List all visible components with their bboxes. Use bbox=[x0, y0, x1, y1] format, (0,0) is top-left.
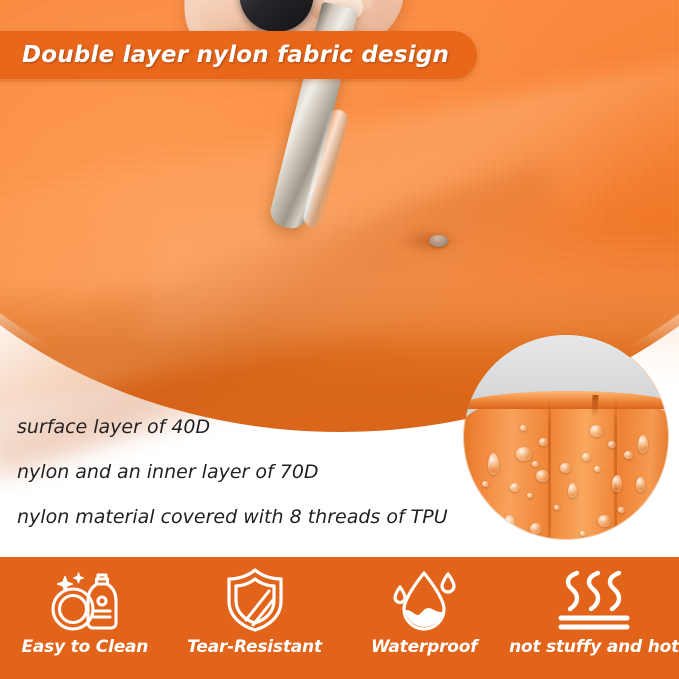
water-droplet bbox=[598, 515, 611, 527]
tool-tip-shadow bbox=[400, 228, 460, 254]
copy-line-2: nylon and an inner layer of 70D bbox=[17, 463, 477, 482]
product-feature-image: Double layer nylon fabric design bbox=[0, 0, 679, 679]
water-droplet bbox=[482, 481, 489, 487]
feature-label: Waterproof bbox=[371, 637, 477, 657]
feature-bar: Easy to Clean Tear-Resistant bbox=[0, 557, 679, 679]
water-droplet bbox=[582, 453, 591, 461]
water-drop-icon bbox=[388, 567, 460, 633]
heat-waves-icon bbox=[553, 567, 635, 633]
water-droplet bbox=[554, 505, 560, 510]
water-droplet bbox=[560, 463, 571, 473]
feature-label: Tear-Resistant bbox=[187, 637, 322, 657]
water-droplet bbox=[530, 523, 542, 534]
water-droplet bbox=[488, 453, 499, 475]
shield-icon bbox=[223, 567, 287, 633]
water-droplet bbox=[618, 507, 625, 513]
waterproof-closeup-inset bbox=[464, 335, 668, 539]
water-droplet bbox=[568, 483, 577, 498]
feature-item-tear-resistant: Tear-Resistant bbox=[170, 557, 340, 679]
water-droplet bbox=[594, 466, 601, 472]
feature-item-waterproof: Waterproof bbox=[339, 557, 509, 679]
water-droplet bbox=[608, 441, 616, 448]
feature-item-easy-to-clean: Easy to Clean bbox=[0, 557, 170, 679]
hero-photo: Double layer nylon fabric design bbox=[0, 0, 679, 557]
water-droplet bbox=[536, 470, 549, 482]
water-droplet bbox=[532, 461, 539, 467]
water-droplet bbox=[527, 493, 533, 498]
feature-item-not-stuffy-and-hot: not stuffy and hot bbox=[509, 557, 679, 679]
copy-line-3: nylon material covered with 8 threads of… bbox=[17, 508, 477, 527]
water-droplet bbox=[580, 531, 586, 536]
water-droplet bbox=[510, 483, 520, 492]
water-droplet bbox=[520, 425, 527, 431]
inset-seam bbox=[614, 397, 617, 539]
water-droplet bbox=[636, 477, 645, 492]
water-droplet bbox=[539, 438, 548, 446]
feature-label: Easy to Clean bbox=[21, 637, 148, 657]
description-copy: surface layer of 40D nylon and an inner … bbox=[17, 418, 477, 527]
water-droplet bbox=[624, 451, 633, 459]
copy-line-1: surface layer of 40D bbox=[17, 418, 477, 437]
feature-label: not stuffy and hot bbox=[509, 637, 679, 657]
title-banner: Double layer nylon fabric design bbox=[0, 31, 477, 79]
water-droplet bbox=[516, 447, 532, 461]
page-title: Double layer nylon fabric design bbox=[22, 42, 449, 68]
water-droplet bbox=[612, 475, 622, 492]
detergent-bottle-and-plate-icon bbox=[46, 567, 124, 633]
water-droplet bbox=[638, 435, 648, 453]
water-droplet bbox=[504, 515, 515, 533]
inset-seam bbox=[548, 397, 551, 539]
water-droplet bbox=[590, 425, 603, 437]
inset-fold bbox=[591, 395, 598, 417]
